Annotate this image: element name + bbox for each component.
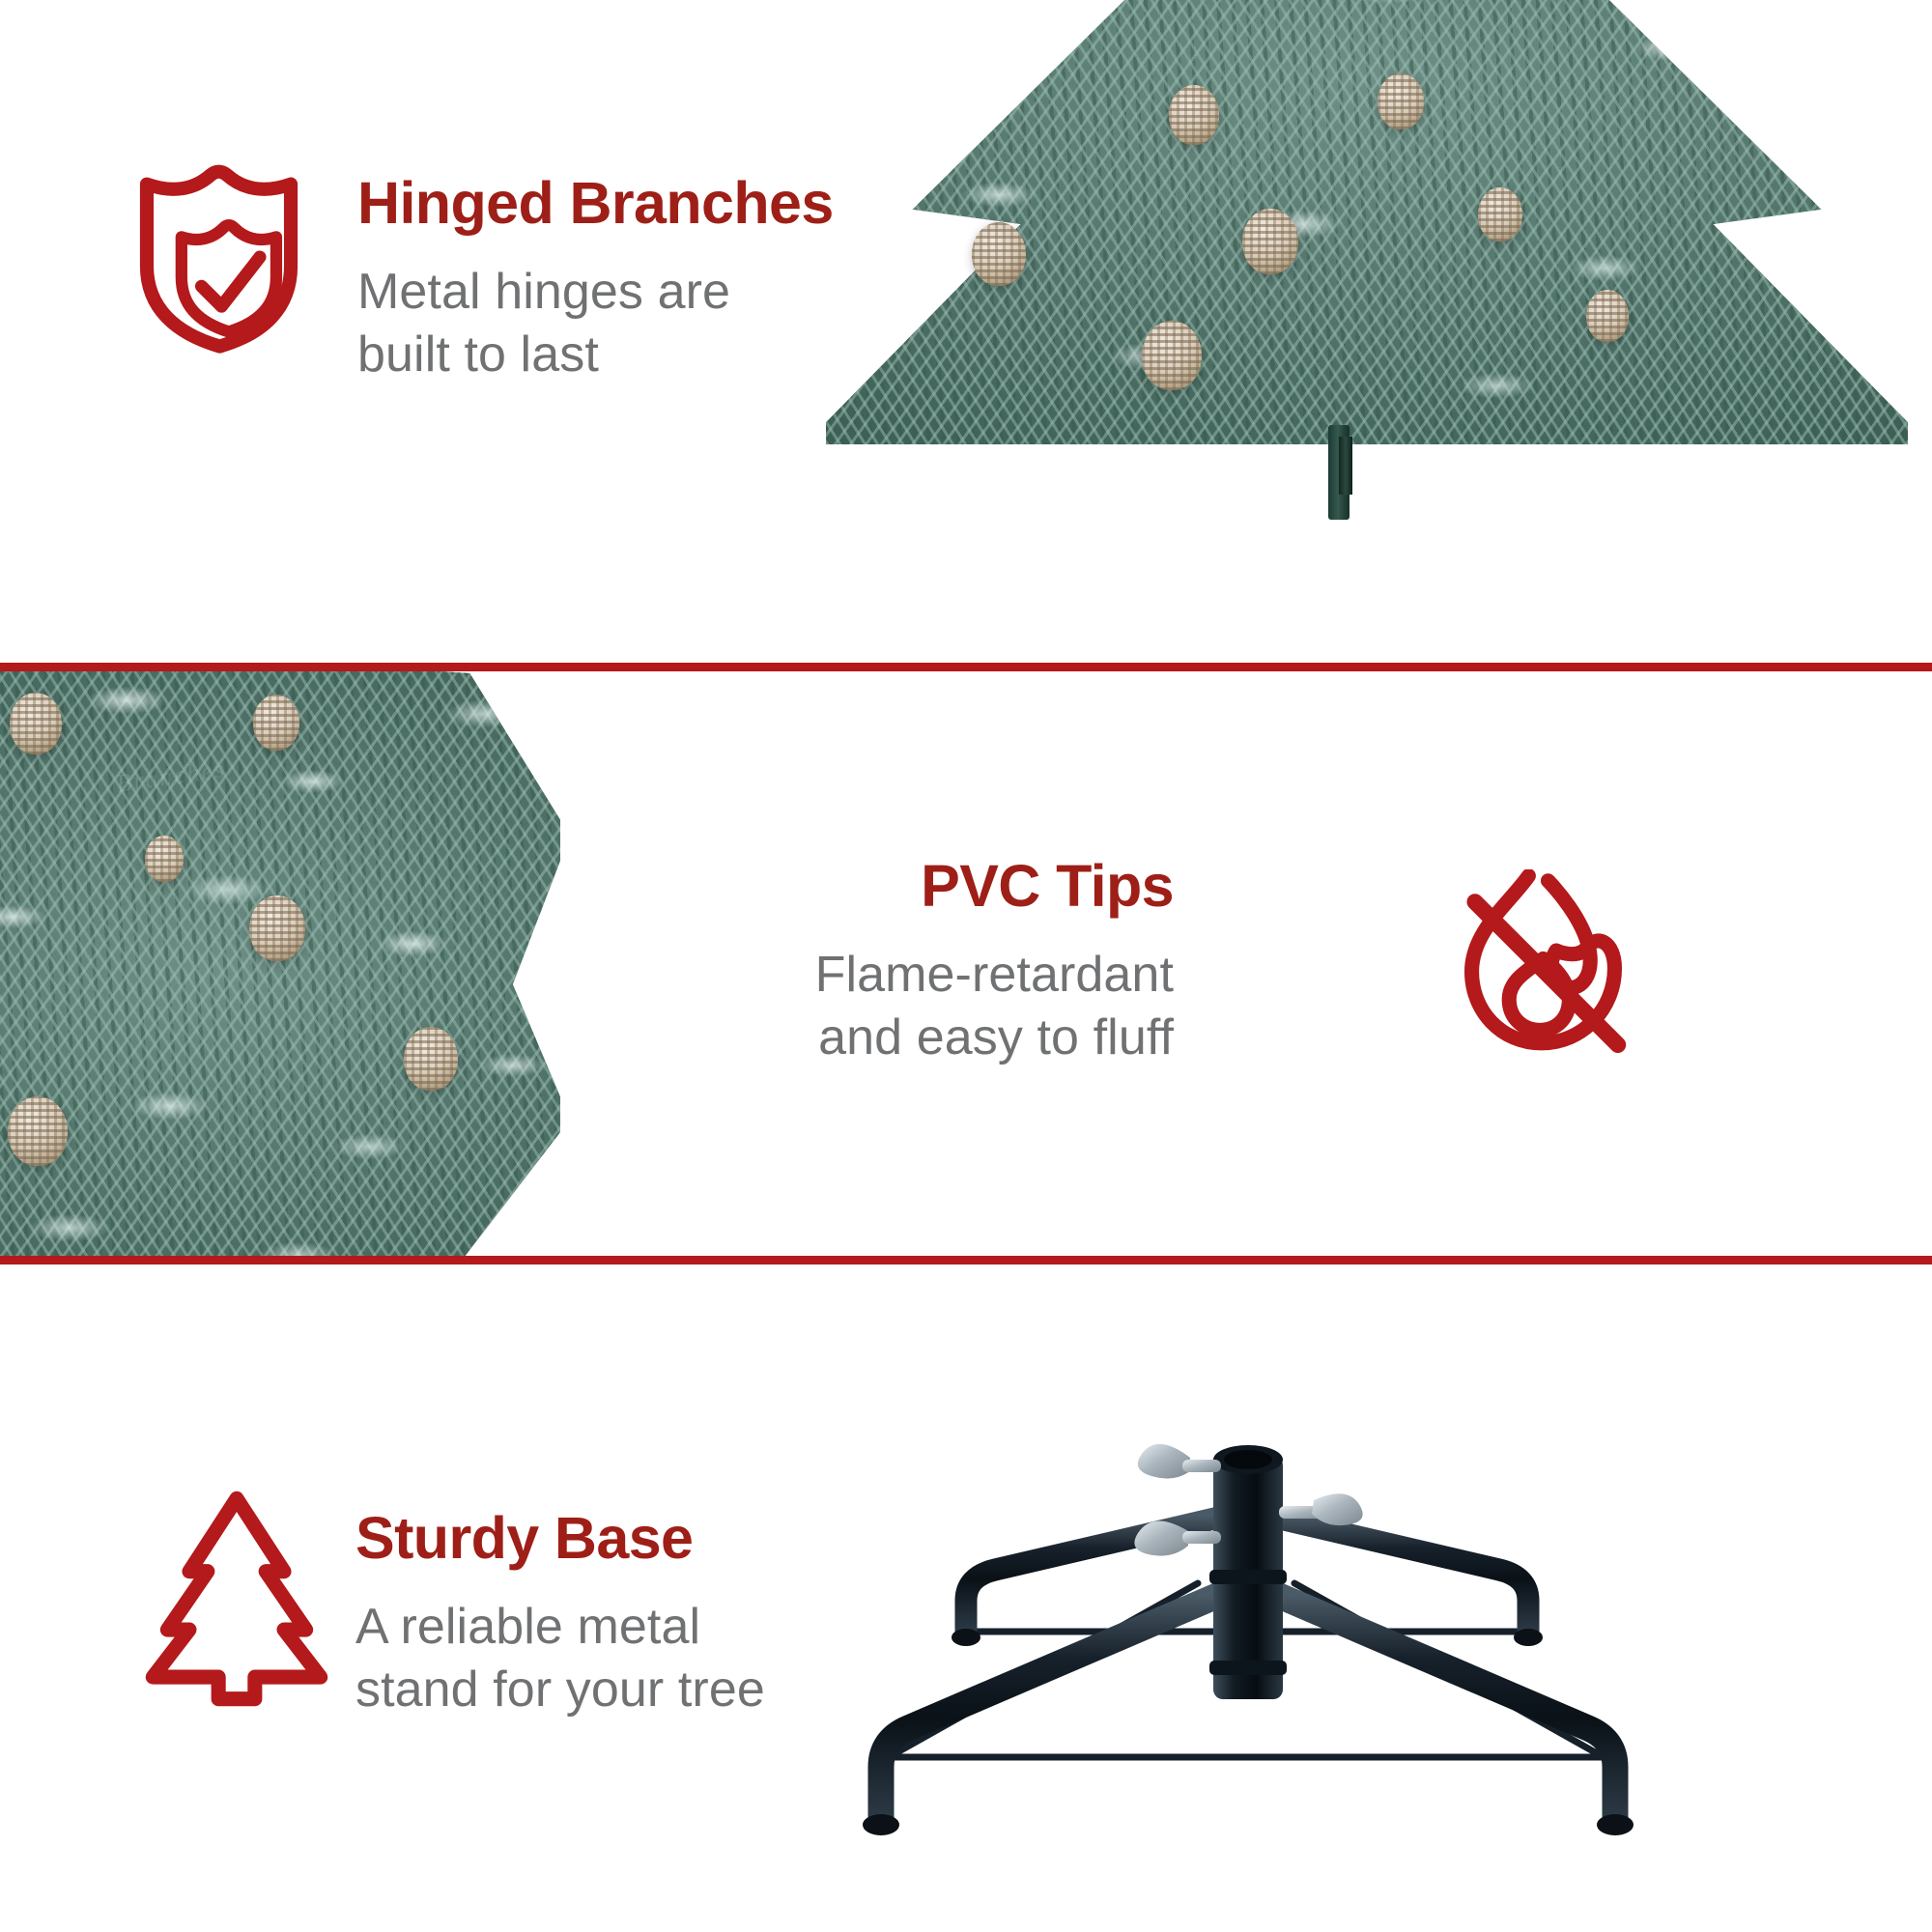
tree-branch-foliage — [0, 671, 560, 1256]
pinecone — [1142, 321, 1202, 390]
flocked-tree-branch-closeup-photo: Branches — [0, 671, 560, 1256]
feature-description-line: stand for your tree — [355, 1659, 765, 1722]
tree-center-pole — [1339, 437, 1352, 495]
feature-description-line: and easy to fluff — [815, 1007, 1174, 1070]
pinecone — [972, 222, 1026, 286]
section-divider-bottom — [0, 1256, 1932, 1264]
tree-stand-illustration — [773, 1342, 1719, 1883]
feature-text-sturdy-base: Sturdy Base A reliable metal stand for y… — [355, 1507, 765, 1722]
feature-title: Hinged Branches — [357, 172, 834, 236]
pinecone — [249, 895, 305, 961]
feature-title: PVC Tips — [815, 855, 1174, 919]
feature-title: Sturdy Base — [355, 1507, 765, 1571]
feature-description-line: Flame-retardant — [815, 944, 1174, 1008]
pinecone — [145, 836, 184, 882]
pinecone — [1242, 209, 1298, 274]
flocked-tree-canopy-photo — [802, 0, 1932, 663]
metal-tree-stand-photo — [773, 1342, 1719, 1883]
pinecone — [1169, 85, 1219, 145]
christmas-tree-outline-icon — [135, 1488, 338, 1710]
feature-text-pvc-tips: PVC Tips Flame-retardant and easy to flu… — [815, 671, 1174, 1070]
shield-check-icon — [135, 162, 319, 355]
feature-description-line: A reliable metal — [355, 1596, 765, 1660]
tree-canopy-foliage — [826, 0, 1908, 444]
feature-description: Metal hinges are built to last — [357, 261, 834, 387]
pinecone — [10, 693, 62, 754]
pinecone — [8, 1096, 68, 1166]
pinecone — [1378, 73, 1424, 129]
feature-panel-sturdy-base: Sturdy Base A reliable metal stand for y… — [0, 1264, 1932, 1932]
wing-bolt — [1138, 1444, 1221, 1479]
feature-description: Flame-retardant and easy to fluff — [815, 944, 1174, 1070]
pinecone — [253, 695, 299, 751]
feature-panel-pvc-tips: Branches PVC Tips Flame-retardant and ea… — [0, 671, 1932, 1256]
feature-description-line: Metal hinges are — [357, 261, 834, 325]
no-flame-icon — [1454, 869, 1633, 1058]
infographic-page: Hinged Branches Metal hinges are built t… — [0, 0, 1932, 1932]
pinecone — [404, 1027, 458, 1091]
section-divider-top — [0, 663, 1932, 671]
pinecone — [1586, 290, 1629, 342]
feature-text-hinged-branches: Hinged Branches Metal hinges are built t… — [357, 172, 834, 387]
feature-description-line: built to last — [357, 324, 834, 387]
pinecone — [1478, 187, 1522, 241]
feature-description: A reliable metal stand for your tree — [355, 1596, 765, 1722]
feature-panel-hinged-branches: Hinged Branches Metal hinges are built t… — [0, 0, 1932, 663]
